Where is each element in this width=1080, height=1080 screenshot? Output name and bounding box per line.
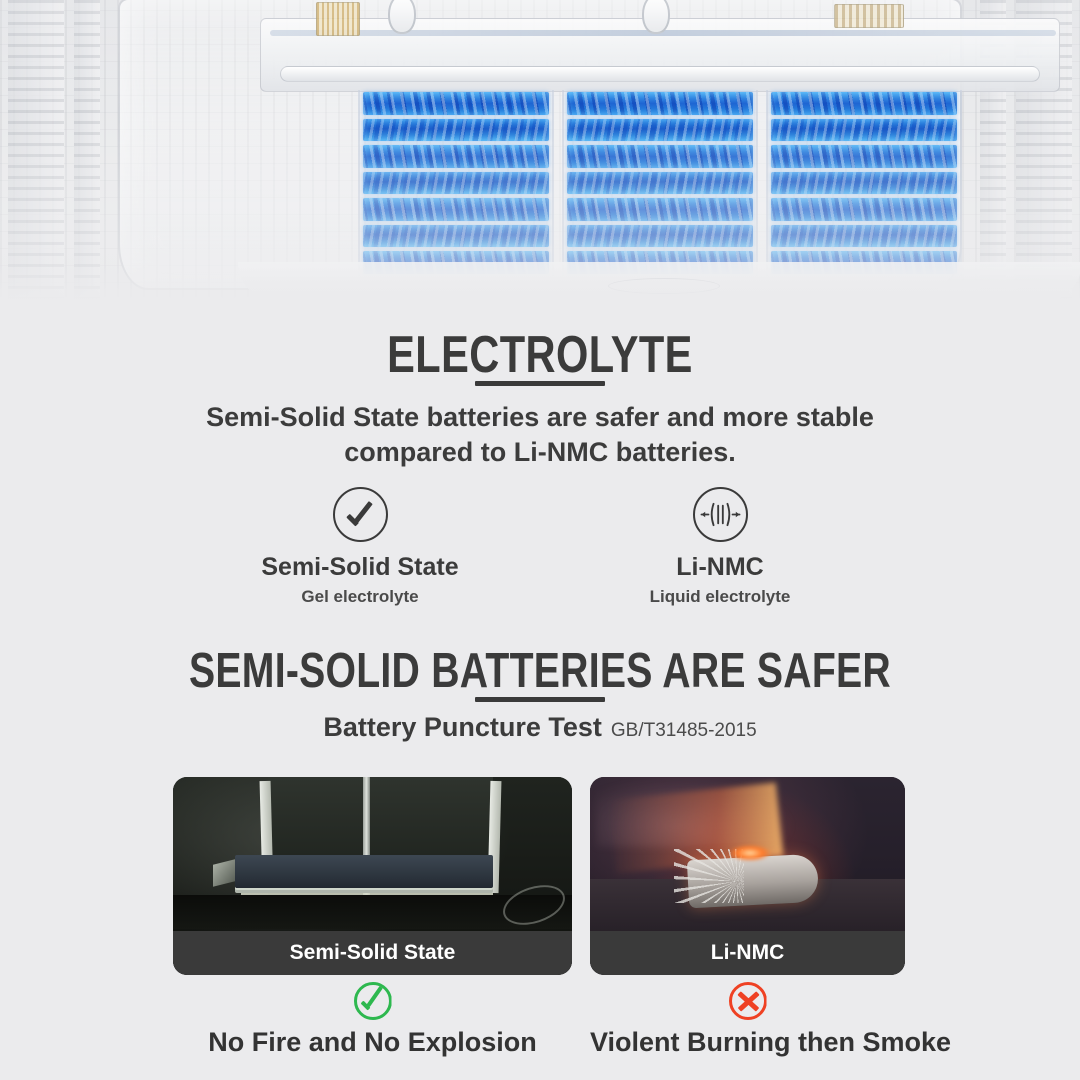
- battery-cell: [363, 92, 549, 115]
- pack-connector-right: [834, 4, 904, 28]
- circle-liquid-expansion-icon: [693, 487, 748, 542]
- comparison-sublabel: Liquid electrolyte: [540, 587, 900, 607]
- comparison-item-li-nmc: Li-NMC Liquid electrolyte: [540, 487, 900, 607]
- liquid-expansion-glyph: [695, 489, 746, 540]
- cell-column: [562, 90, 758, 276]
- electrolyte-title: ELECTROLYTE: [108, 325, 972, 385]
- battery-cell: [771, 198, 957, 221]
- battery-cell: [771, 172, 957, 195]
- infographic-page: ELECTROLYTE Semi-Solid State batteries a…: [0, 0, 1080, 1080]
- battery-cell: [771, 119, 957, 142]
- comparison-label: Li-NMC: [540, 553, 900, 582]
- circle-check-icon: [333, 487, 388, 542]
- circle-check-icon: [354, 982, 392, 1020]
- battery-cell: [363, 145, 549, 168]
- comparison-label: Semi-Solid State: [180, 553, 540, 582]
- battery-cell: [363, 225, 549, 248]
- battery-cell: [567, 198, 753, 221]
- test-standard: GB/T31485-2015: [611, 720, 757, 741]
- electrolyte-subtitle: Semi-Solid State batteries are safer and…: [160, 400, 920, 469]
- circle-x-icon: [729, 982, 767, 1020]
- photo-semi-solid-state: Semi-Solid State: [173, 777, 572, 975]
- photo-caption: Semi-Solid State: [173, 931, 572, 975]
- photo-caption: Li-NMC: [590, 931, 905, 975]
- battery-cell: [771, 145, 957, 168]
- battery-cell: [567, 172, 753, 195]
- photo-li-nmc: Li-NMC: [590, 777, 905, 975]
- pack-knob-left: [388, 0, 416, 34]
- result-text: No Fire and No Explosion: [173, 1027, 572, 1058]
- electrolyte-comparison-row: Semi-Solid State Gel electrolyte: [180, 487, 900, 607]
- cell-column: [766, 90, 962, 276]
- battery-cell: [567, 225, 753, 248]
- battery-pack-cross-bar: [280, 66, 1040, 82]
- battery-pack-base-detail: [608, 278, 720, 294]
- semi-solid-battery-sample: [235, 855, 493, 888]
- hero-left-module-a: [8, 0, 64, 300]
- battery-cell: [771, 225, 957, 248]
- test-results-row: No Fire and No Explosion Violent Burning…: [173, 982, 905, 1058]
- safety-title: SEMI-SOLID BATTERIES ARE SAFER: [108, 643, 972, 699]
- title-divider-top: [475, 381, 605, 386]
- battery-cell: [363, 172, 549, 195]
- cell-column: [358, 90, 554, 276]
- pack-connector-left: [316, 2, 360, 36]
- flame-core-icon: [730, 845, 770, 861]
- battery-cell: [363, 119, 549, 142]
- result-text: Violent Burning then Smoke: [590, 1027, 905, 1058]
- hero-left-module-b: [74, 0, 100, 300]
- battery-pack-shell: [118, 0, 962, 290]
- hero-battery-pack-image: [0, 0, 1080, 300]
- check-ring: [354, 982, 392, 1020]
- result-li-nmc: Violent Burning then Smoke: [590, 982, 905, 1058]
- title-divider-bottom: [475, 697, 605, 702]
- puncture-test-photos: Semi-Solid State Li-NMC: [173, 777, 905, 975]
- puncture-test-line: Battery Puncture TestGB/T31485-2015: [0, 712, 1080, 743]
- x-ring: [729, 982, 767, 1020]
- battery-cell: [567, 92, 753, 115]
- battery-cell: [771, 92, 957, 115]
- comparison-sublabel: Gel electrolyte: [180, 587, 540, 607]
- battery-cell: [567, 145, 753, 168]
- battery-cell: [567, 119, 753, 142]
- battery-cell: [363, 198, 549, 221]
- pack-knob-right: [642, 0, 670, 34]
- comparison-item-semi-solid: Semi-Solid State Gel electrolyte: [180, 487, 540, 607]
- result-semi-solid: No Fire and No Explosion: [173, 982, 572, 1058]
- test-name: Battery Puncture Test: [323, 712, 602, 742]
- battery-cell-stacks: [358, 90, 962, 276]
